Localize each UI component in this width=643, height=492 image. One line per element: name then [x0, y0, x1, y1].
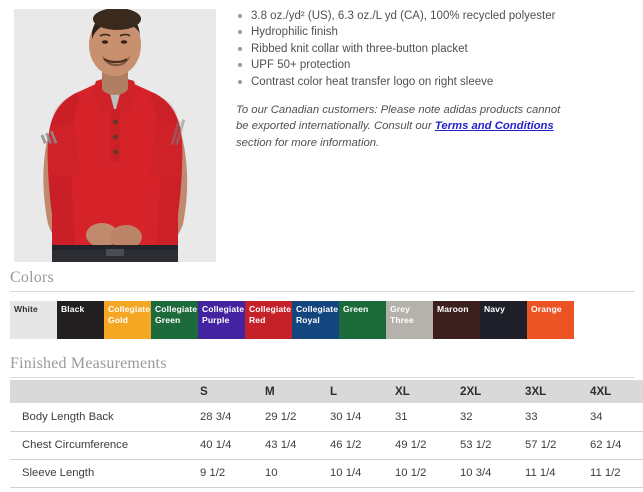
- table-body: Body Length Back 28 3/4 29 1/2 30 1/4 31…: [10, 403, 643, 487]
- bullet-icon: [238, 30, 242, 34]
- table-header-row: S M L XL 2XL 3XL 4XL: [10, 380, 643, 403]
- cell-value: 10 1/2: [395, 459, 460, 487]
- terms-and-conditions-link[interactable]: Terms and Conditions: [435, 120, 554, 132]
- color-swatch-collegiate-gold[interactable]: Collegiate Gold: [104, 301, 151, 339]
- cell-value: 62 1/4: [590, 431, 643, 459]
- swatch-label: Navy: [484, 304, 525, 315]
- row-label: Chest Circumference: [10, 431, 200, 459]
- cell-value: 30 1/4: [330, 403, 395, 431]
- color-swatch-white[interactable]: White: [10, 301, 57, 339]
- cell-value: 57 1/2: [525, 431, 590, 459]
- table-row: Sleeve Length 9 1/2 10 10 1/4 10 1/2 10 …: [10, 459, 643, 487]
- product-photo: [14, 9, 216, 262]
- feature-text: Hydrophilic finish: [251, 26, 338, 38]
- swatch-label: Collegiate Red: [249, 304, 290, 326]
- table-header: S M L XL 2XL 3XL 4XL: [10, 380, 643, 403]
- color-swatch-orange[interactable]: Orange: [527, 301, 574, 339]
- list-item: UPF 50+ protection: [236, 57, 636, 73]
- row-label: Sleeve Length: [10, 459, 200, 487]
- cell-value: 10: [265, 459, 330, 487]
- color-swatch-black[interactable]: Black: [57, 301, 104, 339]
- cell-value: 9 1/2: [200, 459, 265, 487]
- swatch-label: Collegiate Royal: [296, 304, 337, 326]
- color-swatch-collegiate-royal[interactable]: Collegiate Royal: [292, 301, 339, 339]
- color-swatch-collegiate-green[interactable]: Collegiate Green: [151, 301, 198, 339]
- column-header-l: L: [330, 380, 395, 403]
- cell-value: 28 3/4: [200, 403, 265, 431]
- table-row: Body Length Back 28 3/4 29 1/2 30 1/4 31…: [10, 403, 643, 431]
- measurements-divider: [10, 377, 635, 378]
- column-header-2xl: 2XL: [460, 380, 525, 403]
- feature-list: 3.8 oz./yd² (US), 6.3 oz./L yd (CA), 100…: [236, 8, 636, 90]
- cell-value: 31: [395, 403, 460, 431]
- bullet-icon: [238, 47, 242, 51]
- cell-value: 10 1/4: [330, 459, 395, 487]
- column-header-blank: [10, 380, 200, 403]
- column-header-s: S: [200, 380, 265, 403]
- cell-value: 46 1/2: [330, 431, 395, 459]
- swatch-label: Black: [61, 304, 102, 315]
- measurements-heading: Finished Measurements: [0, 355, 643, 377]
- colors-divider: [10, 291, 635, 292]
- list-item: Ribbed knit collar with three-button pla…: [236, 41, 636, 57]
- colors-section: Colors White Black Collegiate Gold Colle…: [0, 269, 643, 339]
- column-header-3xl: 3XL: [525, 380, 590, 403]
- product-specs: 3.8 oz./yd² (US), 6.3 oz./L yd (CA), 100…: [236, 8, 636, 162]
- product-overview-section: 3.8 oz./yd² (US), 6.3 oz./L yd (CA), 100…: [0, 0, 643, 263]
- color-swatch-grey-three[interactable]: Grey Three: [386, 301, 433, 339]
- swatch-label: Maroon: [437, 304, 478, 315]
- table-row: Chest Circumference 40 1/4 43 1/4 46 1/2…: [10, 431, 643, 459]
- measurements-table: S M L XL 2XL 3XL 4XL Body Length Back 28…: [10, 380, 643, 488]
- feature-text: 3.8 oz./yd² (US), 6.3 oz./L yd (CA), 100…: [251, 10, 555, 22]
- measurements-section: Finished Measurements S M L XL 2XL 3XL 4…: [0, 355, 643, 488]
- column-header-4xl: 4XL: [590, 380, 643, 403]
- bullet-icon: [238, 14, 242, 18]
- product-image[interactable]: [14, 9, 216, 262]
- bullet-icon: [238, 80, 242, 84]
- color-swatch-navy[interactable]: Navy: [480, 301, 527, 339]
- swatch-label: Collegiate Purple: [202, 304, 243, 326]
- swatch-label: Collegiate Green: [155, 304, 196, 326]
- color-swatch-row: White Black Collegiate Gold Collegiate G…: [10, 301, 643, 339]
- cell-value: 34: [590, 403, 643, 431]
- cell-value: 11 1/2: [590, 459, 643, 487]
- color-swatch-collegiate-purple[interactable]: Collegiate Purple: [198, 301, 245, 339]
- swatch-label: Grey Three: [390, 304, 431, 326]
- swatch-label: White: [14, 304, 55, 315]
- column-header-m: M: [265, 380, 330, 403]
- list-item: 3.8 oz./yd² (US), 6.3 oz./L yd (CA), 100…: [236, 8, 636, 24]
- cell-value: 53 1/2: [460, 431, 525, 459]
- feature-text: Ribbed knit collar with three-button pla…: [251, 43, 468, 55]
- cell-value: 40 1/4: [200, 431, 265, 459]
- note-text-after-link: section for more information.: [236, 137, 379, 149]
- color-swatch-collegiate-red[interactable]: Collegiate Red: [245, 301, 292, 339]
- cell-value: 49 1/2: [395, 431, 460, 459]
- swatch-label: Orange: [531, 304, 572, 315]
- feature-text: Contrast color heat transfer logo on rig…: [251, 76, 493, 88]
- feature-text: UPF 50+ protection: [251, 59, 350, 71]
- bullet-icon: [238, 63, 242, 67]
- cell-value: 33: [525, 403, 590, 431]
- cell-value: 32: [460, 403, 525, 431]
- color-swatch-green[interactable]: Green: [339, 301, 386, 339]
- swatch-label: Collegiate Gold: [108, 304, 149, 326]
- cell-value: 43 1/4: [265, 431, 330, 459]
- color-swatch-maroon[interactable]: Maroon: [433, 301, 480, 339]
- cell-value: 29 1/2: [265, 403, 330, 431]
- cell-value: 11 1/4: [525, 459, 590, 487]
- swatch-label: Green: [343, 304, 384, 315]
- list-item: Contrast color heat transfer logo on rig…: [236, 74, 636, 90]
- colors-heading: Colors: [0, 269, 643, 291]
- column-header-xl: XL: [395, 380, 460, 403]
- cell-value: 10 3/4: [460, 459, 525, 487]
- canadian-customers-note: To our Canadian customers: Please note a…: [236, 102, 568, 151]
- list-item: Hydrophilic finish: [236, 24, 636, 40]
- row-label: Body Length Back: [10, 403, 200, 431]
